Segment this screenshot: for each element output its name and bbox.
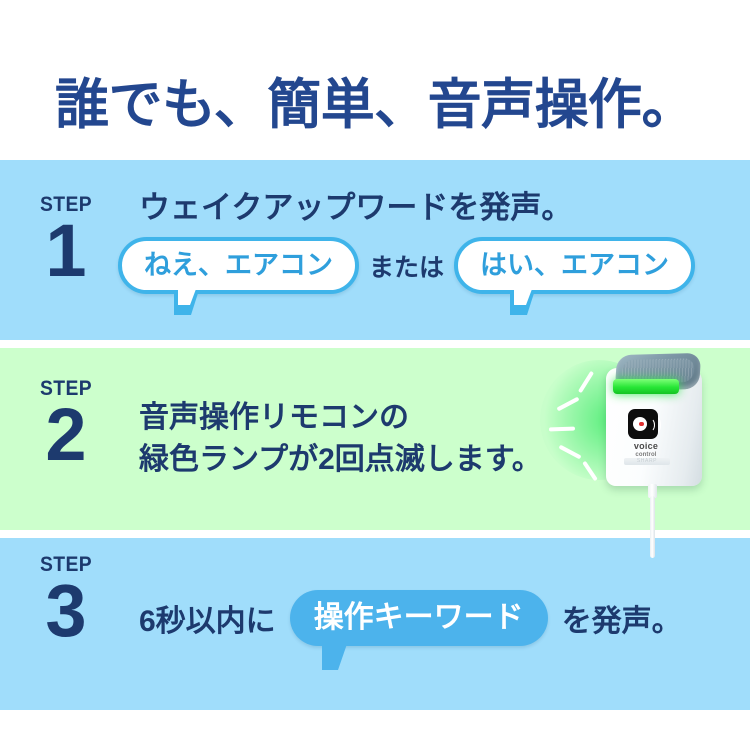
step-2-label: STEP 2 (0, 378, 132, 469)
step-3-number: 3 (0, 577, 132, 645)
step-1-conjunction: または (369, 248, 444, 284)
step-3-row: 6秒以内に 操作キーワード を発声。 (139, 590, 682, 646)
wake-word-bubble-right[interactable]: はい、エアコン (454, 237, 695, 294)
sound-wave-icon (648, 415, 661, 435)
bubble-tail-inner (514, 289, 532, 305)
operation-keyword-bubble[interactable]: 操作キーワード (290, 590, 548, 646)
step-3-section: STEP 3 6秒以内に 操作キーワード を発声。 (0, 538, 750, 710)
wake-word-bubble-right-text: はい、エアコン (480, 250, 669, 280)
step-2-number: 2 (0, 401, 132, 469)
device-nameplate: SHARP (624, 458, 670, 465)
device-cable-wire (650, 496, 655, 558)
step-2-line-2: 緑色ランプが2回点滅します。 (139, 442, 542, 477)
step-3-word: STEP (5, 554, 126, 575)
step-1-word: STEP (5, 194, 126, 215)
step-1-label: STEP 1 (0, 194, 132, 285)
step-2-text: 音声操作リモコンの 緑色ランプが2回点滅します。 (139, 400, 542, 485)
wake-word-bubble-left[interactable]: ねえ、エアコン (118, 237, 359, 294)
page-title: 誰でも、簡単、音声操作。 (55, 78, 695, 132)
step-1-number: 1 (0, 217, 132, 285)
wake-word-bubble-left-text: ねえ、エアコン (144, 250, 333, 280)
page-title-container: 誰でも、簡単、音声操作。 (0, 62, 750, 148)
step-1-bubble-row: ねえ、エアコン または はい、エアコン (118, 237, 695, 294)
device-brand-line-1: voice (622, 442, 670, 451)
voice-control-badge-icon (628, 409, 658, 439)
step-3-text-before: 6秒以内に (139, 596, 276, 640)
step-3-text-after: を発声。 (562, 596, 682, 640)
step-3-label: STEP 3 (0, 554, 132, 645)
step-2-line-1: 音声操作リモコンの (139, 400, 542, 435)
operation-keyword-bubble-text: 操作キーワード (314, 601, 524, 634)
infographic-page: 誰でも、簡単、音声操作。 STEP 1 ウェイクアップワードを発声。 ねえ、エア… (0, 0, 750, 750)
step-1-section: STEP 1 ウェイクアップワードを発声。 ねえ、エアコン または はい、エアコ… (0, 160, 750, 340)
step-1-headline: ウェイクアップワードを発声。 (139, 190, 572, 227)
voice-remote-illustration: voice control SHARP (540, 348, 750, 548)
bubble-tail-inner (178, 289, 196, 305)
step-2-word: STEP (5, 378, 126, 399)
device-brand-text: voice control (622, 442, 670, 458)
bubble-tail-outer (322, 644, 347, 670)
badge-dot-icon (639, 422, 644, 426)
device-green-lamp (613, 379, 679, 394)
voice-remote-device: voice control SHARP (602, 354, 708, 486)
